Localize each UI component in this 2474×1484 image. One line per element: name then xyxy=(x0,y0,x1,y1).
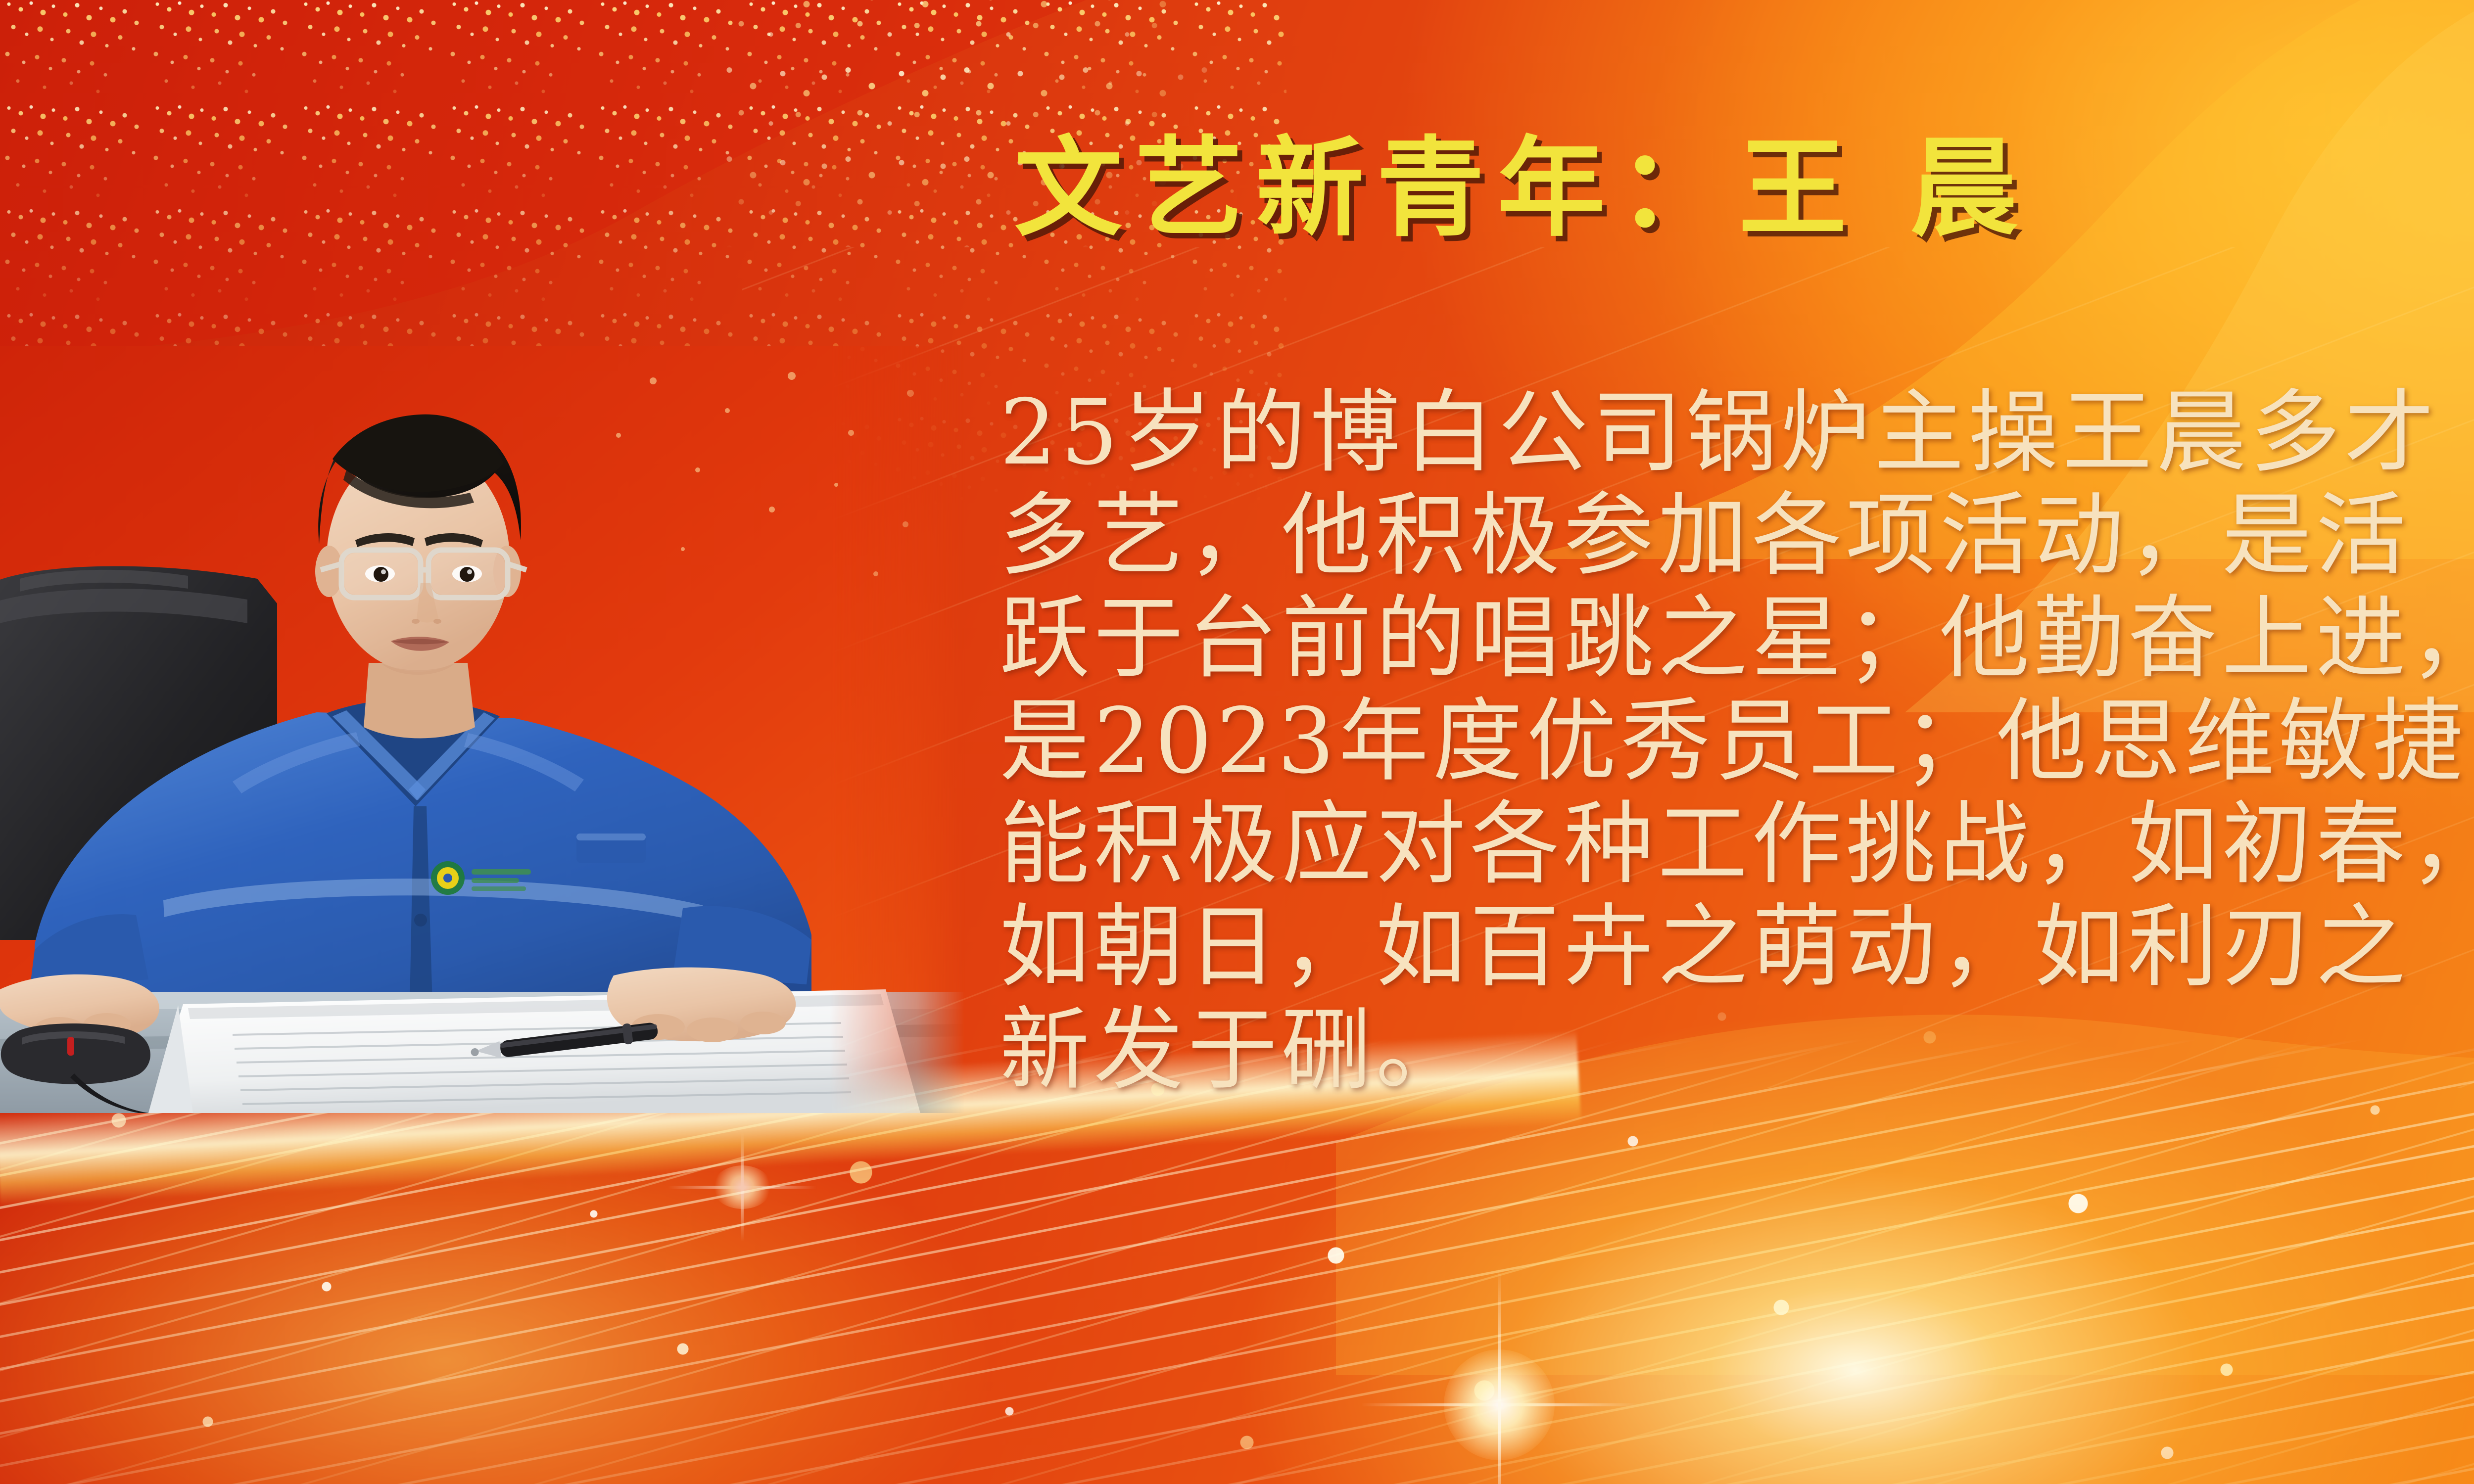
star-flare-main xyxy=(1361,1266,1638,1484)
page-title: 文艺新青年：王 晨 xyxy=(1014,106,2474,270)
star-flare-left xyxy=(668,1133,816,1242)
body-line: 新发于硎。 xyxy=(999,998,2474,1101)
body-line: 能积极应对各种工作挑战，如初春， xyxy=(999,792,2474,895)
body-line: 是2023年度优秀员工；他思维敏捷， xyxy=(999,690,2474,792)
poster-canvas: 文艺新青年：王 晨 25岁的博白公司锅炉主操王晨多才 多艺，他积极参加各项活动，… xyxy=(0,0,2474,1484)
bottom-left-glow xyxy=(0,1088,990,1484)
body-line: 跃于台前的唱跳之星；他勤奋上进， xyxy=(999,587,2474,690)
body-line: 25岁的博白公司锅炉主操王晨多才 xyxy=(999,381,2474,484)
body-line: 多艺，他积极参加各项活动，是活 xyxy=(999,484,2474,587)
flare-core xyxy=(1444,1349,1555,1460)
portrait-photo xyxy=(0,346,965,1113)
flare-core xyxy=(713,1165,772,1209)
body-paragraph: 25岁的博白公司锅炉主操王晨多才 多艺，他积极参加各项活动，是活 跃于台前的唱跳… xyxy=(999,381,2474,1101)
wave-shape-top-left xyxy=(0,0,1138,356)
body-line: 如朝日，如百卉之萌动，如利刃之 xyxy=(999,895,2474,998)
